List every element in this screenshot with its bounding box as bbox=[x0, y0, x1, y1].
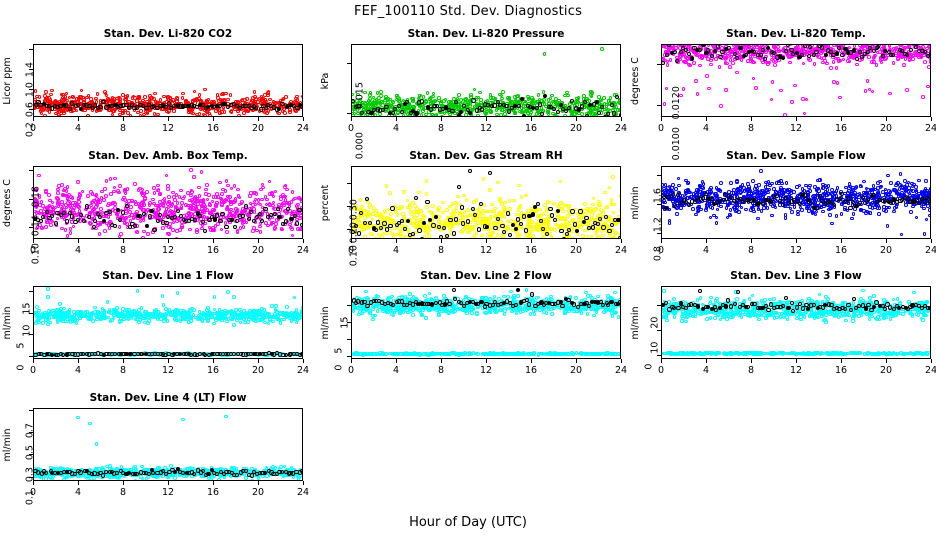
data-point bbox=[846, 44, 850, 45]
data-point bbox=[808, 58, 812, 62]
data-point bbox=[267, 109, 271, 113]
data-point bbox=[832, 60, 836, 64]
data-point bbox=[124, 191, 128, 195]
data-point bbox=[456, 195, 460, 199]
data-point bbox=[198, 194, 202, 198]
data-point bbox=[122, 196, 126, 200]
data-point bbox=[573, 222, 577, 226]
data-point bbox=[581, 234, 585, 238]
data-point bbox=[134, 200, 138, 204]
data-point bbox=[273, 226, 277, 230]
data-point bbox=[479, 202, 483, 206]
data-point bbox=[706, 48, 710, 52]
data-point bbox=[536, 202, 540, 206]
data-point bbox=[724, 44, 728, 45]
data-point bbox=[578, 209, 582, 213]
figure-xaxis-label: Hour of Day (UTC) bbox=[0, 515, 936, 530]
data-point bbox=[141, 236, 145, 239]
data-point bbox=[403, 227, 407, 231]
data-point bbox=[396, 213, 400, 217]
data-point bbox=[735, 56, 739, 60]
data-point bbox=[570, 110, 574, 114]
data-point bbox=[489, 96, 493, 100]
data-point bbox=[738, 46, 742, 50]
data-point bbox=[392, 234, 396, 238]
data-point bbox=[590, 235, 594, 239]
data-point bbox=[195, 199, 199, 203]
data-point bbox=[763, 57, 767, 61]
data-point bbox=[50, 214, 54, 218]
data-point bbox=[606, 108, 610, 112]
data-point bbox=[298, 116, 302, 117]
x-tick-label: 16 bbox=[826, 123, 856, 134]
data-point bbox=[614, 105, 618, 109]
data-point bbox=[892, 61, 896, 65]
panel-yaxis-label: kPa bbox=[320, 72, 331, 89]
data-point bbox=[566, 94, 570, 98]
data-point bbox=[575, 97, 579, 101]
data-point bbox=[836, 81, 840, 85]
data-point bbox=[441, 211, 445, 215]
data-point bbox=[261, 186, 265, 190]
data-point bbox=[466, 231, 470, 235]
data-point bbox=[497, 212, 501, 216]
data-point bbox=[803, 112, 807, 116]
data-point bbox=[554, 97, 558, 101]
data-point bbox=[300, 200, 303, 204]
data-point bbox=[291, 190, 295, 194]
data-point bbox=[298, 197, 302, 201]
data-point bbox=[123, 188, 127, 192]
data-point bbox=[909, 210, 913, 214]
data-point bbox=[482, 177, 486, 181]
x-tick-label: 16 bbox=[198, 123, 228, 134]
data-point bbox=[727, 46, 731, 50]
data-point bbox=[792, 44, 796, 45]
data-point bbox=[425, 179, 429, 183]
x-tick-label: 8 bbox=[426, 245, 456, 256]
x-tick-mark bbox=[486, 117, 487, 121]
data-point bbox=[282, 97, 286, 101]
data-point bbox=[829, 66, 833, 70]
data-point bbox=[433, 100, 437, 104]
data-point bbox=[783, 113, 787, 117]
x-tick-mark bbox=[396, 117, 397, 121]
x-tick-mark bbox=[123, 239, 124, 243]
data-point bbox=[111, 113, 115, 117]
data-point bbox=[478, 91, 482, 95]
data-point bbox=[508, 233, 512, 237]
data-point bbox=[607, 229, 611, 233]
x-tick-label: 0 bbox=[18, 123, 48, 134]
data-point bbox=[156, 113, 160, 117]
data-point bbox=[368, 206, 372, 210]
data-point bbox=[888, 92, 892, 96]
data-point bbox=[563, 114, 567, 117]
data-point bbox=[699, 54, 703, 58]
data-point bbox=[385, 184, 389, 188]
data-point bbox=[374, 228, 378, 232]
data-point bbox=[867, 55, 871, 59]
data-point bbox=[567, 106, 571, 110]
data-point bbox=[519, 222, 523, 226]
data-point bbox=[559, 180, 563, 184]
data-point bbox=[502, 230, 506, 234]
data-point bbox=[135, 230, 139, 234]
data-point bbox=[124, 97, 128, 101]
data-point bbox=[425, 200, 429, 204]
data-point bbox=[588, 238, 592, 239]
data-point bbox=[437, 206, 441, 210]
data-point bbox=[291, 234, 295, 238]
data-point bbox=[842, 58, 846, 62]
x-tick-label: 20 bbox=[243, 123, 273, 134]
data-point bbox=[546, 200, 550, 204]
data-point bbox=[785, 181, 789, 185]
data-point bbox=[400, 207, 404, 211]
data-point bbox=[429, 107, 433, 111]
data-point bbox=[823, 59, 827, 63]
x-tick-mark bbox=[576, 239, 577, 243]
data-point bbox=[180, 205, 184, 209]
data-point bbox=[864, 89, 868, 93]
data-point bbox=[543, 52, 547, 56]
data-point bbox=[701, 44, 705, 47]
data-point bbox=[248, 194, 252, 198]
data-point bbox=[546, 217, 550, 221]
data-point bbox=[389, 212, 393, 216]
data-point bbox=[575, 111, 579, 115]
data-point bbox=[870, 60, 874, 64]
data-point bbox=[930, 54, 931, 58]
data-point bbox=[724, 57, 728, 61]
data-point bbox=[358, 116, 362, 117]
data-point bbox=[752, 77, 756, 81]
data-point bbox=[156, 219, 160, 223]
y-tick-label: 1.4 bbox=[25, 62, 36, 77]
data-point bbox=[111, 201, 115, 205]
data-point bbox=[412, 210, 416, 214]
data-point bbox=[195, 228, 199, 232]
data-point bbox=[729, 181, 733, 185]
data-point bbox=[414, 196, 418, 200]
data-point bbox=[139, 109, 143, 113]
x-tick-mark bbox=[351, 239, 352, 243]
data-point bbox=[923, 60, 927, 64]
x-tick-label: 0 bbox=[336, 245, 366, 256]
data-point bbox=[151, 198, 155, 202]
data-point bbox=[848, 46, 852, 50]
data-point bbox=[558, 202, 562, 206]
data-point bbox=[69, 231, 73, 235]
data-point bbox=[570, 209, 574, 213]
data-point bbox=[382, 221, 386, 225]
panel-title: Stan. Dev. Li-820 Pressure bbox=[351, 28, 621, 40]
x-tick-label: 20 bbox=[871, 123, 901, 134]
data-point bbox=[400, 110, 404, 114]
data-point bbox=[571, 218, 575, 222]
data-point bbox=[68, 204, 72, 208]
data-point bbox=[539, 219, 543, 223]
x-tick-mark bbox=[213, 117, 214, 121]
data-point bbox=[840, 53, 844, 57]
data-point bbox=[607, 99, 611, 103]
data-point bbox=[567, 204, 571, 208]
data-point bbox=[796, 210, 800, 214]
data-point bbox=[770, 98, 774, 102]
x-tick-mark bbox=[78, 239, 79, 243]
data-point bbox=[302, 194, 303, 198]
data-point bbox=[365, 197, 369, 201]
data-point bbox=[698, 48, 702, 52]
data-point bbox=[921, 95, 925, 99]
data-point bbox=[203, 229, 207, 233]
data-point bbox=[191, 99, 195, 103]
data-point bbox=[604, 206, 608, 210]
data-point bbox=[880, 185, 884, 189]
data-point bbox=[410, 97, 414, 101]
data-point bbox=[531, 212, 535, 216]
x-tick-label: 8 bbox=[108, 123, 138, 134]
data-point bbox=[445, 234, 449, 238]
data-point bbox=[584, 216, 588, 220]
x-tick-mark bbox=[796, 117, 797, 121]
data-point bbox=[754, 86, 758, 90]
data-point bbox=[105, 179, 109, 183]
figure-canvas: FEF_100110 Std. Dev. Diagnostics Hour of… bbox=[0, 0, 936, 540]
data-point bbox=[176, 209, 180, 213]
data-point bbox=[100, 190, 104, 194]
data-point bbox=[80, 89, 84, 93]
data-point bbox=[266, 93, 270, 97]
data-point bbox=[426, 91, 430, 95]
data-point bbox=[669, 58, 673, 62]
data-point bbox=[929, 51, 931, 55]
data-point bbox=[417, 228, 421, 232]
data-point bbox=[592, 197, 596, 201]
data-point bbox=[268, 192, 272, 196]
data-point bbox=[164, 221, 168, 225]
panel-title: Stan. Dev. Gas Stream RH bbox=[351, 150, 621, 162]
data-point bbox=[507, 116, 511, 117]
data-point bbox=[928, 214, 931, 218]
data-point bbox=[400, 219, 404, 223]
data-point bbox=[42, 109, 46, 113]
data-point bbox=[64, 95, 68, 99]
data-point bbox=[515, 213, 519, 217]
y-tick-mark bbox=[347, 183, 351, 184]
data-point bbox=[830, 222, 834, 226]
data-point bbox=[244, 109, 248, 113]
data-point bbox=[244, 204, 248, 208]
data-point bbox=[601, 225, 605, 229]
data-point bbox=[467, 103, 471, 107]
data-point bbox=[189, 168, 193, 172]
data-point bbox=[837, 59, 841, 63]
data-point bbox=[550, 235, 554, 239]
data-point bbox=[128, 215, 132, 219]
x-tick-mark bbox=[33, 239, 34, 243]
data-point bbox=[44, 225, 48, 229]
data-point bbox=[880, 58, 884, 62]
data-point bbox=[229, 93, 233, 97]
data-point bbox=[270, 221, 274, 225]
x-tick-mark bbox=[396, 239, 397, 243]
data-point bbox=[422, 95, 426, 99]
data-point bbox=[445, 208, 449, 212]
data-point bbox=[129, 205, 133, 209]
data-point bbox=[904, 57, 908, 61]
data-point bbox=[218, 181, 222, 185]
data-point bbox=[280, 116, 284, 118]
data-point bbox=[66, 234, 70, 238]
data-point bbox=[206, 198, 210, 202]
data-point bbox=[424, 116, 428, 117]
data-point bbox=[72, 225, 76, 229]
data-point bbox=[501, 90, 505, 94]
data-point bbox=[567, 228, 571, 232]
data-point bbox=[224, 225, 228, 229]
data-point bbox=[493, 207, 497, 211]
data-point bbox=[582, 94, 586, 98]
data-point bbox=[79, 107, 83, 111]
panel-title: Stan. Dev. Li-820 Temp. bbox=[661, 28, 931, 40]
data-point bbox=[198, 214, 202, 218]
data-point bbox=[604, 215, 608, 219]
data-point bbox=[537, 93, 541, 97]
x-tick-mark bbox=[841, 117, 842, 121]
data-point bbox=[176, 201, 180, 205]
data-point bbox=[808, 184, 812, 188]
data-point bbox=[301, 95, 303, 99]
panel-title: Stan. Dev. Amb. Box Temp. bbox=[33, 150, 303, 162]
data-point bbox=[899, 172, 903, 176]
data-point bbox=[611, 175, 615, 179]
data-point bbox=[601, 238, 605, 239]
data-point bbox=[167, 111, 171, 115]
data-point bbox=[198, 93, 202, 97]
x-tick-mark bbox=[78, 117, 79, 121]
data-point bbox=[517, 184, 521, 188]
data-point bbox=[92, 207, 96, 211]
data-point bbox=[159, 98, 163, 102]
data-point bbox=[496, 233, 500, 237]
data-point bbox=[434, 215, 438, 219]
data-point bbox=[591, 203, 595, 207]
data-point bbox=[48, 199, 52, 203]
data-point bbox=[466, 219, 470, 223]
data-point bbox=[559, 229, 563, 233]
data-point bbox=[486, 210, 490, 214]
data-point bbox=[218, 111, 222, 115]
data-point bbox=[618, 108, 621, 112]
panel-yaxis-label: degrees C bbox=[2, 179, 13, 227]
data-point bbox=[236, 230, 240, 234]
data-point bbox=[619, 209, 621, 213]
data-point bbox=[824, 53, 828, 57]
data-point bbox=[742, 44, 746, 46]
data-point bbox=[663, 102, 667, 106]
data-point bbox=[562, 237, 566, 239]
data-point bbox=[752, 210, 756, 214]
data-point bbox=[113, 177, 117, 181]
data-point bbox=[218, 219, 222, 223]
data-point bbox=[127, 199, 131, 203]
data-point bbox=[235, 219, 239, 223]
data-point bbox=[701, 180, 705, 184]
data-point bbox=[620, 102, 621, 106]
data-point bbox=[835, 66, 839, 70]
data-point bbox=[448, 218, 452, 222]
data-point bbox=[909, 48, 913, 52]
data-point bbox=[178, 228, 182, 232]
data-point bbox=[64, 228, 68, 232]
x-tick-label: 12 bbox=[153, 123, 183, 134]
data-point bbox=[465, 198, 469, 202]
data-point bbox=[786, 44, 790, 47]
data-point bbox=[466, 208, 470, 212]
data-point bbox=[417, 191, 421, 195]
data-point bbox=[274, 222, 278, 226]
data-point bbox=[793, 84, 797, 88]
data-point bbox=[481, 214, 485, 218]
data-point bbox=[801, 47, 805, 51]
data-point bbox=[276, 207, 280, 211]
data-point bbox=[238, 203, 242, 207]
data-point bbox=[198, 112, 202, 116]
data-point bbox=[167, 195, 171, 199]
data-point bbox=[569, 238, 573, 239]
data-point bbox=[245, 97, 249, 101]
data-point bbox=[47, 193, 51, 197]
data-point bbox=[98, 105, 102, 109]
data-point bbox=[716, 44, 720, 48]
data-point bbox=[614, 222, 618, 226]
data-point bbox=[790, 100, 794, 104]
data-point bbox=[892, 210, 896, 214]
plot-area bbox=[661, 166, 931, 239]
x-tick-mark bbox=[706, 117, 707, 121]
data-point bbox=[549, 227, 553, 231]
data-point bbox=[565, 91, 569, 95]
data-point bbox=[556, 110, 560, 114]
data-point bbox=[507, 109, 511, 113]
data-point bbox=[620, 225, 621, 229]
data-point bbox=[695, 54, 699, 58]
plot-area bbox=[661, 44, 931, 117]
data-point bbox=[504, 104, 508, 108]
data-point bbox=[43, 114, 47, 117]
data-point bbox=[487, 232, 491, 236]
data-point bbox=[905, 53, 909, 57]
data-point bbox=[146, 232, 150, 236]
data-point bbox=[253, 95, 257, 99]
x-tick-label: 4 bbox=[63, 123, 93, 134]
data-point bbox=[237, 114, 241, 117]
data-point bbox=[546, 222, 550, 226]
data-point bbox=[538, 208, 542, 212]
data-point bbox=[302, 212, 303, 216]
data-point bbox=[129, 114, 133, 117]
data-point bbox=[368, 93, 372, 97]
data-point bbox=[612, 211, 616, 215]
data-point bbox=[156, 207, 160, 211]
data-point bbox=[506, 211, 510, 215]
x-tick-label: 4 bbox=[381, 245, 411, 256]
data-point bbox=[612, 236, 616, 239]
data-point bbox=[917, 56, 921, 60]
data-point bbox=[619, 194, 621, 198]
